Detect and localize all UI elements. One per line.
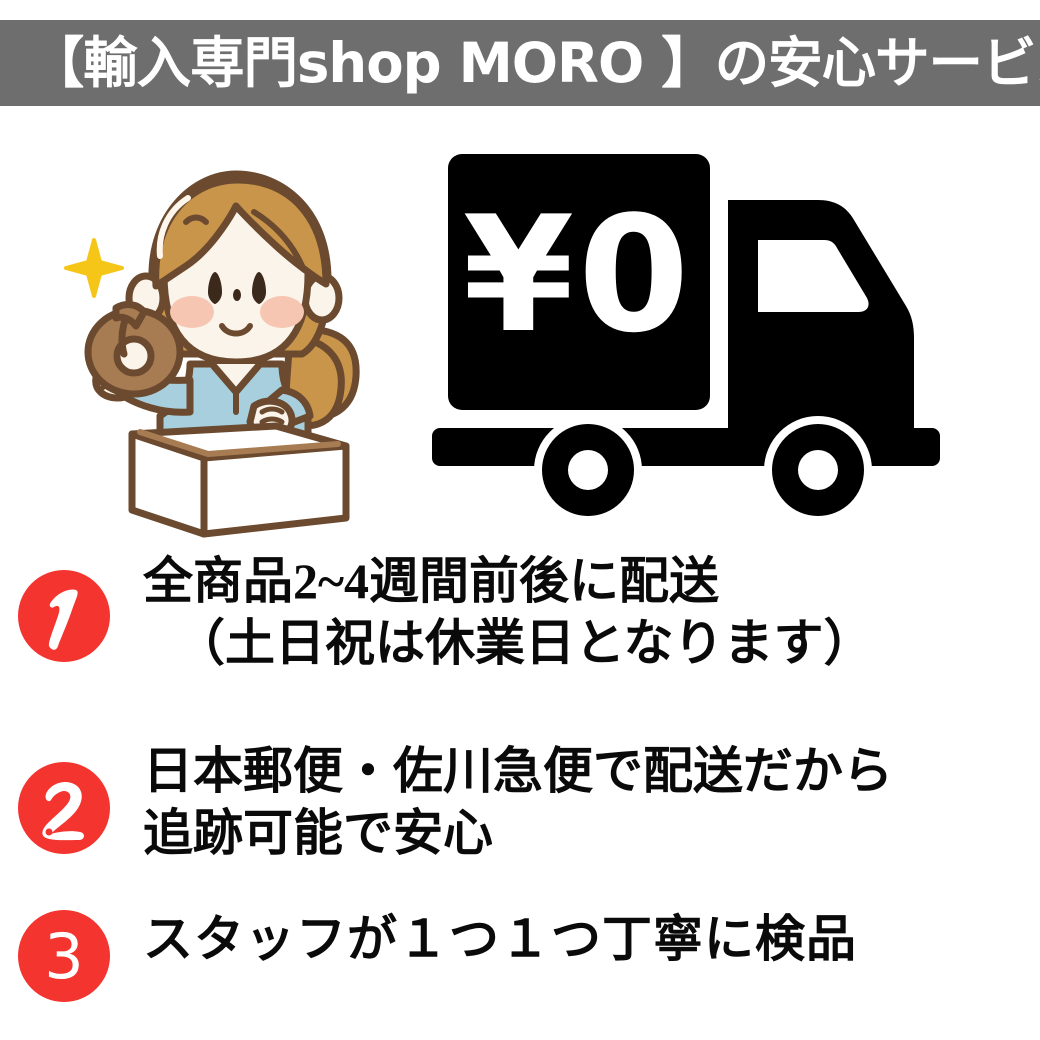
service-text-1: 全商品2~4週間前後に配送 （土日祝は休業日となります） <box>143 550 1033 674</box>
service-text-1-line-1: 全商品2~4週間前後に配送 <box>143 550 1033 612</box>
service-text-2: 日本郵便・佐川急便で配送だから 追跡可能で安心 <box>143 740 1033 864</box>
woman-packing-box-illustration <box>40 140 420 540</box>
illustration-area: ¥0 <box>0 110 1040 530</box>
header-banner: 【輸入専門shop MORO 】の安心サービス <box>0 20 1040 106</box>
badge-number-3: 3 <box>18 910 110 1002</box>
badge-number-1 <box>18 570 110 662</box>
service-text-1-line-2: （土日祝は休業日となります） <box>143 612 1033 674</box>
svg-text:3: 3 <box>44 920 83 993</box>
badge-number-2 <box>18 762 110 854</box>
banner-title: 【輸入専門shop MORO 】の安心サービス <box>0 20 1040 106</box>
service-text-3: スタッフが１つ１つ丁寧に検品 <box>143 908 1033 970</box>
service-text-2-line-1: 日本郵便・佐川急便で配送だから <box>143 740 1033 802</box>
sparkle-icon <box>66 240 122 296</box>
service-list: 全商品2~4週間前後に配送 （土日祝は休業日となります） 日本郵便・佐川急便で配… <box>0 548 1040 1040</box>
truck-cab <box>728 200 914 428</box>
service-text-3-line-1: スタッフが１つ１つ丁寧に検品 <box>143 908 1033 970</box>
free-shipping-truck-illustration: ¥0 <box>420 140 1000 530</box>
service-text-2-line-2: 追跡可能で安心 <box>143 802 1033 864</box>
truck-price-label: ¥0 <box>463 181 694 368</box>
